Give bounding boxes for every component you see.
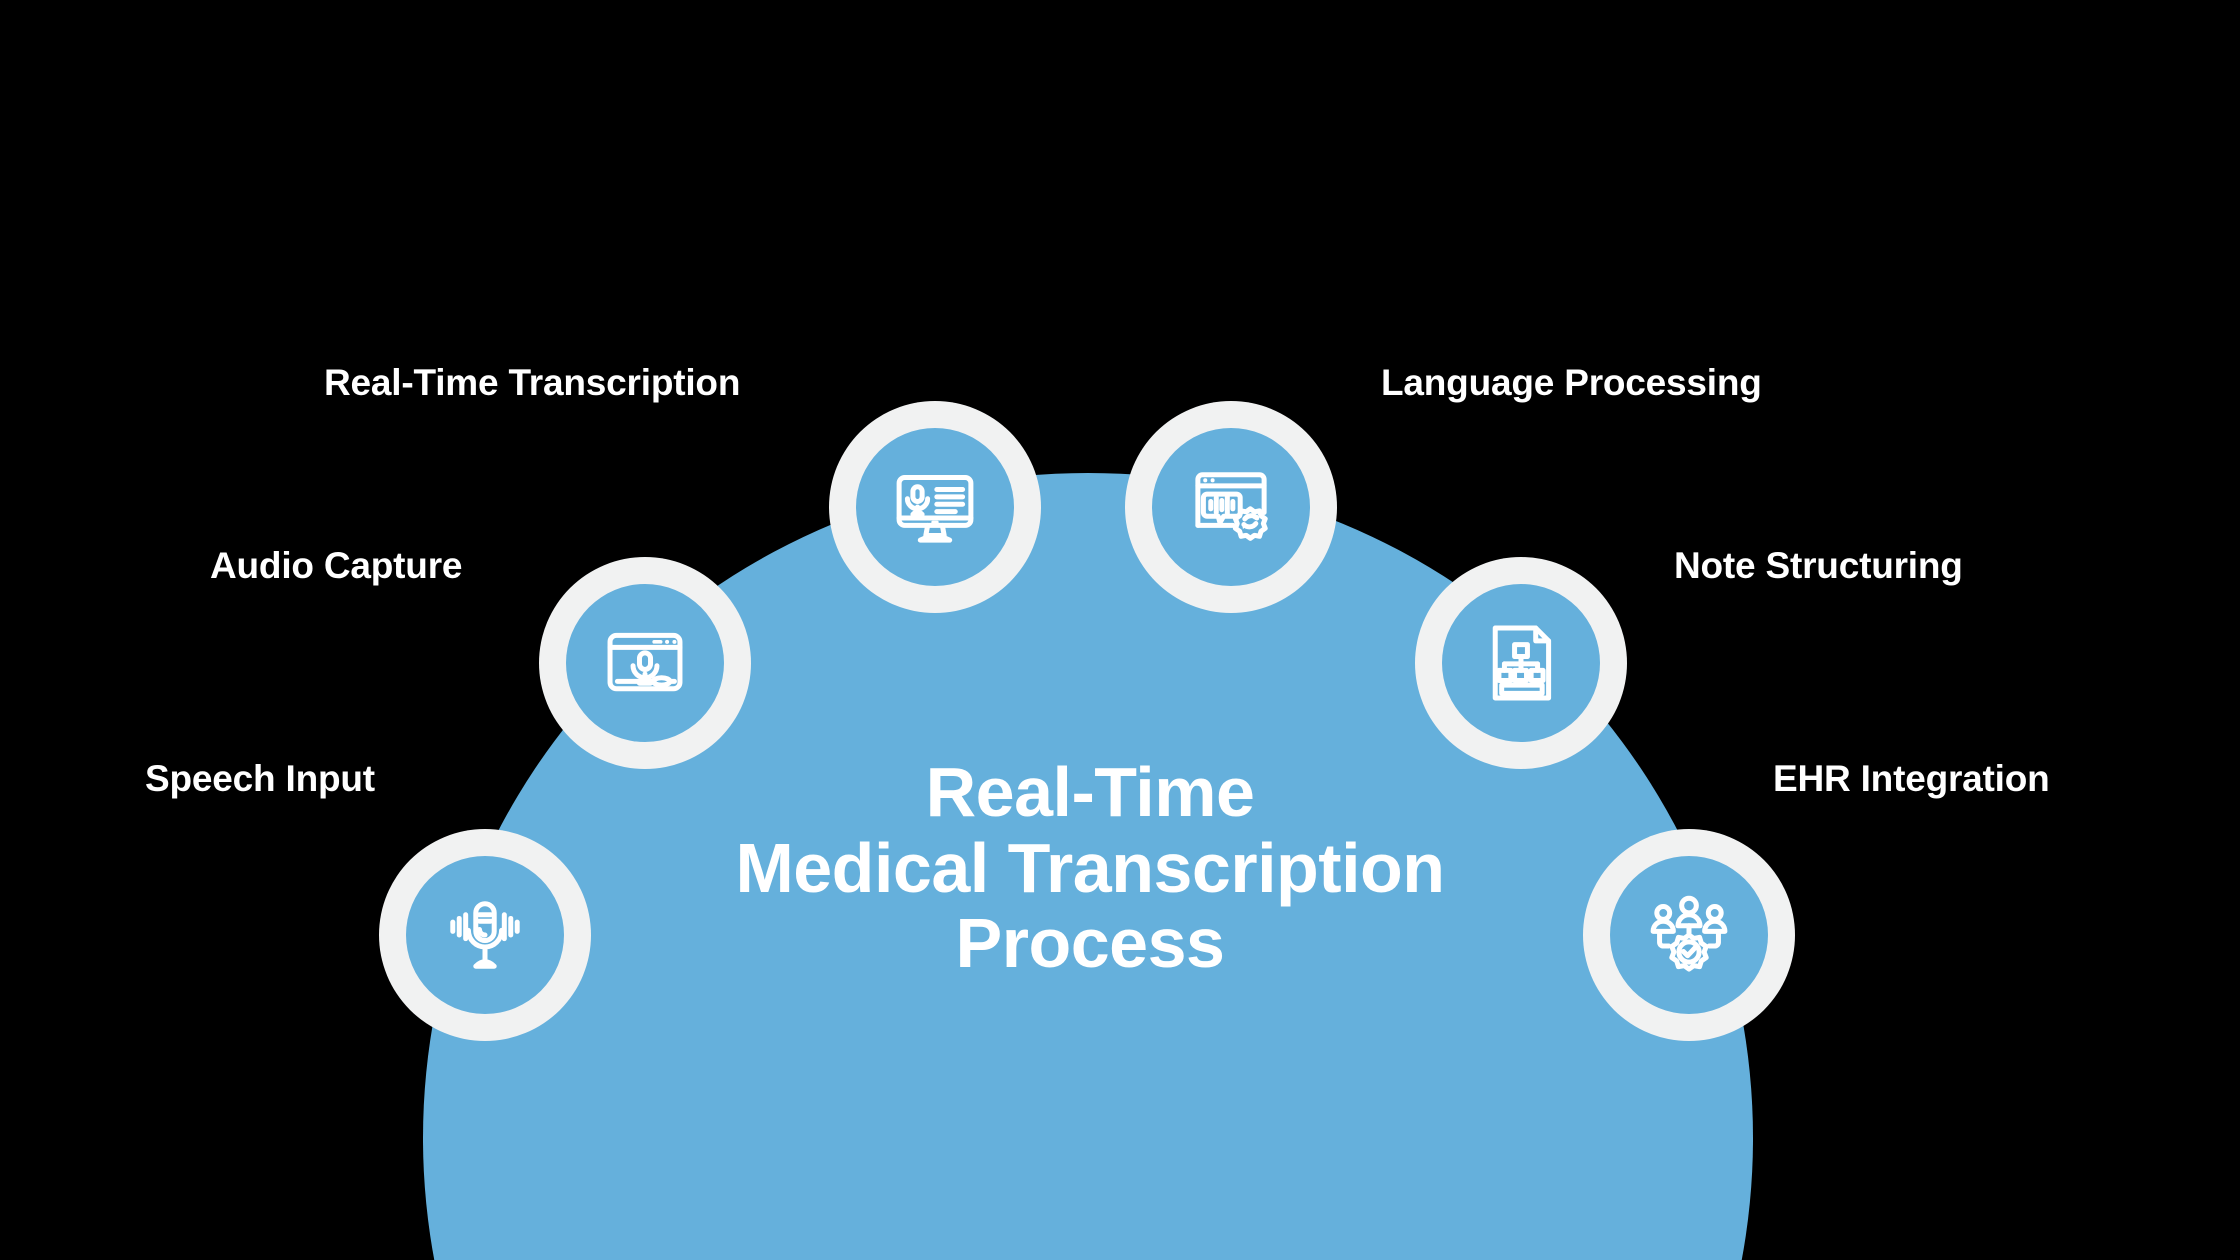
node-real-time-transcription-inner	[856, 428, 1014, 586]
node-note-structuring[interactable]	[1415, 557, 1627, 769]
node-language-processing[interactable]	[1125, 401, 1337, 613]
studio-microphone-soundwaves-icon	[439, 889, 531, 981]
node-label-note-structuring: Note Structuring	[1674, 545, 1963, 587]
page-title-line-1: Real-Time	[620, 755, 1560, 831]
node-ehr-integration[interactable]	[1583, 829, 1795, 1041]
browser-speech-bubble-waveform-gear-icon	[1185, 461, 1277, 553]
page-title-line-2: Medical Transcription	[620, 831, 1560, 907]
node-label-language-processing: Language Processing	[1381, 362, 1762, 404]
node-ehr-integration-inner	[1610, 856, 1768, 1014]
node-note-structuring-inner	[1442, 584, 1600, 742]
monitor-microphone-text-lines-icon	[889, 461, 981, 553]
node-audio-capture-inner	[566, 584, 724, 742]
node-label-real-time-transcription: Real-Time Transcription	[324, 362, 740, 404]
node-real-time-transcription[interactable]	[829, 401, 1041, 613]
infographic-canvas: Real-Time Medical Transcription Process	[0, 0, 2240, 1260]
page-title-line-3: Process	[620, 906, 1560, 982]
document-hierarchy-chart-icon	[1475, 617, 1567, 709]
node-speech-input-inner	[406, 856, 564, 1014]
node-label-speech-input: Speech Input	[145, 758, 375, 800]
node-language-processing-inner	[1152, 428, 1310, 586]
node-speech-input[interactable]	[379, 829, 591, 1041]
browser-window-microphone-slider-icon	[599, 617, 691, 709]
node-label-ehr-integration: EHR Integration	[1773, 758, 2050, 800]
page-title: Real-Time Medical Transcription Process	[620, 755, 1560, 982]
node-label-audio-capture: Audio Capture	[210, 545, 462, 587]
people-group-gear-check-icon	[1643, 889, 1735, 981]
node-audio-capture[interactable]	[539, 557, 751, 769]
